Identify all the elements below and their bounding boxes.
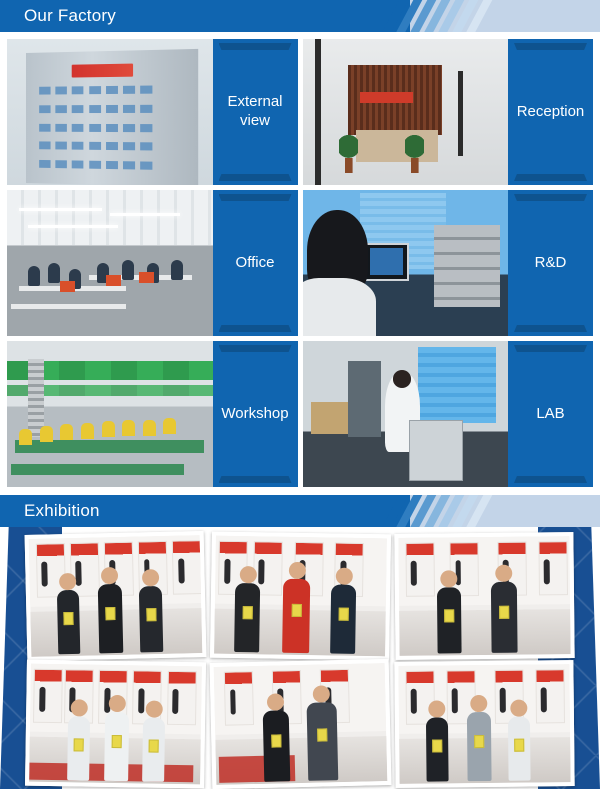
photo-assembly-line-workers — [7, 341, 213, 487]
photo-lab-technician-equipment — [303, 341, 509, 487]
cell-label-rnd: R&D — [508, 190, 593, 336]
cell-label-workshop: Workshop — [213, 341, 298, 487]
cell-label-text: Office — [236, 254, 275, 273]
factory-cell-workshop[interactable]: Workshop — [7, 341, 298, 487]
exhibition-row-bottom — [26, 661, 574, 787]
exhibition-photo-3[interactable] — [395, 532, 575, 660]
photo-reception-lobby — [303, 39, 509, 185]
cell-label-text: LAB — [536, 405, 564, 424]
exhibition-photo-6[interactable] — [395, 660, 575, 788]
factory-cell-lab[interactable]: LAB — [303, 341, 594, 487]
cell-label-lab: LAB — [508, 341, 593, 487]
cell-label-text: Reception — [517, 103, 585, 122]
cell-label-text: External view — [217, 93, 294, 131]
cell-label-reception: Reception — [508, 39, 593, 185]
section-title-exhibition: Exhibition — [0, 495, 600, 527]
factory-row: External view Reception — [7, 39, 593, 185]
cell-label-office: Office — [213, 190, 298, 336]
photo-open-plan-office — [7, 190, 213, 336]
factory-cell-rnd[interactable]: R&D — [303, 190, 594, 336]
factory-cell-reception[interactable]: Reception — [303, 39, 594, 185]
cell-label-text: R&D — [535, 254, 567, 273]
section-title-our-factory: Our Factory — [0, 0, 600, 32]
factory-row: Workshop LAB — [7, 341, 593, 487]
factory-row: Office R&D — [7, 190, 593, 336]
exhibition-photo-1[interactable] — [25, 531, 206, 661]
factory-cell-office[interactable]: Office — [7, 190, 298, 336]
factory-exhibition-page: Our Factory — [0, 0, 600, 800]
exhibition-row-top — [26, 533, 574, 659]
section-header-exhibition: Exhibition — [0, 495, 600, 527]
exhibition-photo-5[interactable] — [209, 659, 390, 789]
cell-label-text: Workshop — [221, 405, 288, 424]
photo-factory-building-exterior — [7, 39, 213, 185]
section-header-our-factory: Our Factory — [0, 0, 600, 32]
exhibition-photo-4[interactable] — [25, 660, 206, 789]
factory-cell-external-view[interactable]: External view — [7, 39, 298, 185]
cell-label-external-view: External view — [213, 39, 298, 185]
factory-photo-grid: External view Reception — [0, 32, 600, 487]
exhibition-photo-2[interactable] — [210, 532, 391, 661]
exhibition-photo-collage — [0, 527, 600, 789]
photo-engineer-at-test-bench — [303, 190, 509, 336]
